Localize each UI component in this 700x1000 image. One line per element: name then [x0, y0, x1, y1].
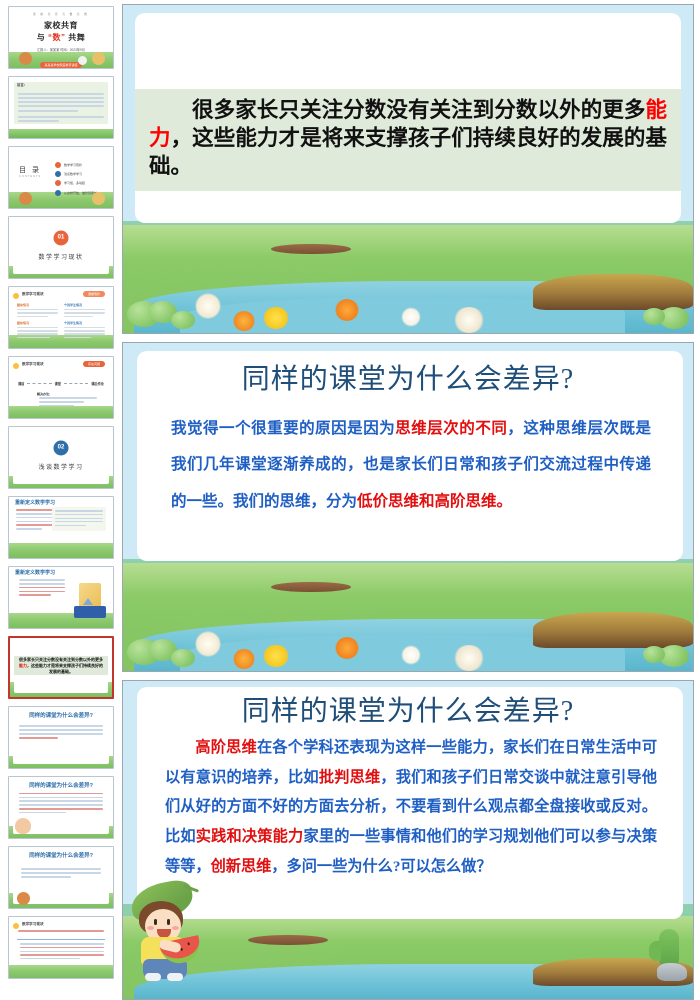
slide-thumbnail-11[interactable]: 同样的课堂为什么会差异?: [8, 706, 114, 769]
squirrel-icon: [19, 192, 32, 205]
bush-icon: [171, 649, 195, 667]
thumb-text-lines: [16, 509, 53, 532]
slide-thumbnail-12[interactable]: 同样的课堂为什么会差异?: [8, 776, 114, 839]
boy-illustration-icon: [15, 818, 31, 834]
thumb-text-lines: [19, 793, 103, 816]
thumb-toc-item: 从这样开始，做智慧家长: [55, 190, 97, 196]
quote-text-post: ，这些能力才是将来支撑孩子们持续良好的发展的基础。: [149, 126, 667, 179]
shoe-icon: [167, 973, 183, 981]
quote-text-pre: 很多家长只关注分数没有关注到分数以外的更多: [192, 98, 645, 123]
slide-thumbnail-3[interactable]: 目 录 CONTENTS 数学学习现状 浅谈数学学习 学习惯、多动起 从这样开始…: [8, 146, 114, 209]
slide-title: 同样的课堂为什么会差异?: [123, 357, 693, 397]
thumb-header: 同样的课堂为什么会差异?: [9, 781, 113, 789]
boy-with-watermelon-illustration: [133, 883, 211, 979]
stone-icon: [657, 963, 687, 981]
thumb-column: 整体情况: [17, 321, 58, 341]
daisy-icon: [401, 645, 421, 665]
sun-icon: [13, 923, 19, 929]
wooden-log: [248, 935, 328, 945]
thumb-flow-footer: 解决办法：: [37, 392, 52, 396]
bush-icon: [171, 311, 195, 329]
thumb-header: 重新定义数学学习: [15, 499, 113, 506]
white-flower-icon: [195, 293, 221, 319]
squirrel-icon: [17, 892, 30, 905]
body-part-accent: 批判思维: [319, 769, 381, 786]
thumb-quote-card: [52, 507, 106, 531]
shoe-icon: [145, 973, 161, 981]
thumb-toc-list: 数学学习现状 浅谈数学学习 学习惯、多动起 从这样开始，做智慧家长: [55, 162, 97, 200]
thumb-header: 重新定义数学学习: [15, 569, 113, 576]
thumb-cover-badge: 某某某学校家庭教育讲座: [40, 62, 81, 68]
orange-flower-icon: [335, 637, 359, 659]
slide-thumbnail-4[interactable]: 01 数学学习现状: [8, 216, 114, 279]
slide-body-text: 我觉得一个很重要的原因是因为思维层次的不同，这种思维层次既是我们几年课堂逐渐养成…: [171, 411, 651, 520]
thumb-text-lines: [19, 579, 65, 598]
cheek-icon: [147, 926, 154, 930]
orange-flower-icon: [233, 649, 255, 669]
slide-thumbnail-panel[interactable]: 家 校 共 育 与 数 共 舞 家校共育 与 “数” 共舞 汇报人：某某某 时间…: [0, 0, 120, 1000]
body-part: 我觉得一个很重要的原因是因为: [171, 420, 395, 437]
body-part-accent: 实践和决策能力: [196, 828, 304, 845]
thumb-toc-item: 数学学习现状: [55, 162, 97, 168]
thumb-card: [13, 221, 109, 274]
thumb-callout-box: [74, 606, 106, 618]
giraffe-icon: [92, 192, 105, 205]
thumb-section-label: 浅谈数学学习: [9, 462, 113, 471]
slide-thumbnail-8[interactable]: 重新定义数学学习: [8, 496, 114, 559]
orange-flower-icon: [233, 311, 255, 331]
rabbit-icon: [78, 56, 87, 65]
body-part-accent: 思维层次的不同: [395, 420, 507, 437]
rock-island: [533, 612, 693, 648]
arrow-up-icon: [83, 598, 93, 605]
cheek-icon: [172, 926, 179, 930]
slide-thumbnail-6[interactable]: 数学学习现状 存在问题 课前 课堂 课后作业 解决办法：: [8, 356, 114, 419]
thumb-column: 个别学生情况: [64, 303, 105, 319]
thumb-header: 同样的课堂为什么会差异?: [9, 851, 113, 859]
quote-band[interactable]: 很多家长只关注分数没有关注到分数以外的更多能力，这些能力才是将来支撑孩子们持续良…: [135, 89, 681, 191]
thumb-pill-badge: 课堂现状: [83, 291, 105, 297]
body-part-accent: 创新思维: [211, 858, 272, 875]
slide-thumbnail-14[interactable]: 数学学习现状: [8, 916, 114, 979]
slide-title: 同样的课堂为什么会差异?: [123, 689, 693, 729]
thumb-text-lines: [18, 930, 104, 934]
thumb-text-lines: [39, 397, 97, 408]
slide-editing-area: 很多家长只关注分数没有关注到分数以外的更多能力，这些能力才是将来支撑孩子们持续良…: [120, 0, 700, 1000]
slide-body-text: 高阶思维在各个学科还表现为这样一些能力，家长们在日常生活中可以有意识的培养，比如…: [165, 733, 657, 881]
thumb-cover-title: 家校共育 与 “数” 共舞: [9, 20, 113, 44]
white-flower-icon: [453, 307, 485, 333]
slide-thumbnail-2[interactable]: 前言：: [8, 76, 114, 139]
slide-thumbnail-13[interactable]: 同样的课堂为什么会差异?: [8, 846, 114, 909]
thumb-cover-title-red: “数”: [48, 33, 66, 42]
thumb-header: 数学学习现状: [22, 922, 44, 927]
orange-flower-icon: [335, 299, 359, 321]
thumb-cover-title-line1: 家校共育: [44, 21, 78, 30]
thumb-card: [13, 431, 109, 484]
thumb-toc-item: 浅谈数学学习: [55, 171, 97, 177]
slide-canvas-quote[interactable]: 很多家长只关注分数没有关注到分数以外的更多能力，这些能力才是将来支撑孩子们持续良…: [122, 4, 694, 334]
thumb-column: 整体情况: [17, 303, 58, 319]
eye-icon: [154, 919, 157, 925]
sun-icon: [13, 363, 19, 369]
thumb-cover-title-post: 共舞: [66, 33, 86, 42]
thumb-text-lines: [20, 943, 104, 961]
thumb-columns: 整体情况 个别学生情况: [17, 321, 105, 341]
thumb-header: 数学学习现状: [22, 292, 44, 297]
slide-canvas-question-1[interactable]: 同样的课堂为什么会差异? 我觉得一个很重要的原因是因为思维层次的不同，这种思维层…: [122, 342, 694, 672]
body-part: ，多问一些为什么?可以怎么做？: [271, 858, 491, 875]
yellow-flower-icon: [263, 645, 289, 667]
thumb-columns: 整体情况 个别学生情况: [17, 303, 105, 319]
body-part-accent: 低价思维和高阶思维。: [357, 493, 512, 510]
daisy-icon: [401, 307, 421, 327]
thumb-column: 个别学生情况: [64, 321, 105, 341]
thumb-pill-badge: 存在问题: [83, 361, 105, 367]
thumb-toc-subtitle: CONTENTS: [19, 175, 41, 178]
thumb-grass: [9, 129, 113, 138]
thumb-section-number: 01: [54, 230, 69, 245]
bush-icon: [643, 308, 665, 325]
slide-canvas-question-2[interactable]: 同样的课堂为什么会差异? 高阶思维在各个学科还表现为这样一些能力，家长们在日常生…: [122, 680, 694, 1000]
thumb-header: 数学学习现状: [22, 362, 44, 367]
presentation-editor: 家 校 共 育 与 数 共 舞 家校共育 与 “数” 共舞 汇报人：某某某 时间…: [0, 0, 700, 1000]
yellow-flower-icon: [263, 307, 289, 329]
thumb-preface-heading: 前言：: [17, 82, 27, 87]
white-flower-icon: [453, 645, 485, 671]
rock-island: [533, 274, 693, 310]
squirrel-icon: [19, 52, 32, 65]
sun-icon: [13, 293, 19, 299]
thumb-section-number: 02: [54, 440, 69, 455]
thumb-cover-title-pre: 与: [37, 33, 48, 42]
bush-icon: [643, 646, 665, 663]
thumb-toc-title: 目 录 CONTENTS: [19, 165, 41, 178]
white-flower-icon: [195, 631, 221, 657]
thumb-grass: [9, 965, 113, 978]
thumb-flow: 课前 课堂 课后作业: [18, 381, 104, 386]
giraffe-icon: [92, 52, 105, 65]
slide-thumbnail-10[interactable]: 很多家长只关注分数没有关注到分数以外的更多能力，这些能力才是将来支撑孩子们持续良…: [8, 636, 114, 699]
thumb-text-lines: [21, 868, 101, 880]
quote-text: 很多家长只关注分数没有关注到分数以外的更多能力，这些能力才是将来支撑孩子们持续良…: [149, 97, 667, 181]
thumb-quote-text: 很多家长只关注分数没有关注到分数以外的更多能力，这些能力才是将来支撑孩子们持续良…: [18, 657, 104, 675]
slide-thumbnail-5[interactable]: 数学学习现状 课堂现状 整体情况 个别学生情况 整体情况 个别学生情况: [8, 286, 114, 349]
slide-thumbnail-9[interactable]: 重新定义数学学习: [8, 566, 114, 629]
thumb-text-lines: [19, 725, 103, 741]
slide-thumbnail-1[interactable]: 家 校 共 育 与 数 共 舞 家校共育 与 “数” 共舞 汇报人：某某某 时间…: [8, 6, 114, 69]
thumb-text-lines: [18, 93, 104, 124]
body-part-accent: 高阶思维: [195, 739, 257, 756]
thumb-header: 同样的课堂为什么会差异?: [9, 711, 113, 719]
eye-icon: [167, 919, 170, 925]
thumb-cover-eyebrow: 家 校 共 育 与 数 共 舞: [9, 12, 113, 16]
thumb-toc-item: 学习惯、多动起: [55, 180, 97, 186]
thumb-section-label: 数学学习现状: [9, 252, 113, 261]
thumb-grass: [9, 543, 113, 558]
slide-thumbnail-7[interactable]: 02 浅谈数学学习: [8, 426, 114, 489]
